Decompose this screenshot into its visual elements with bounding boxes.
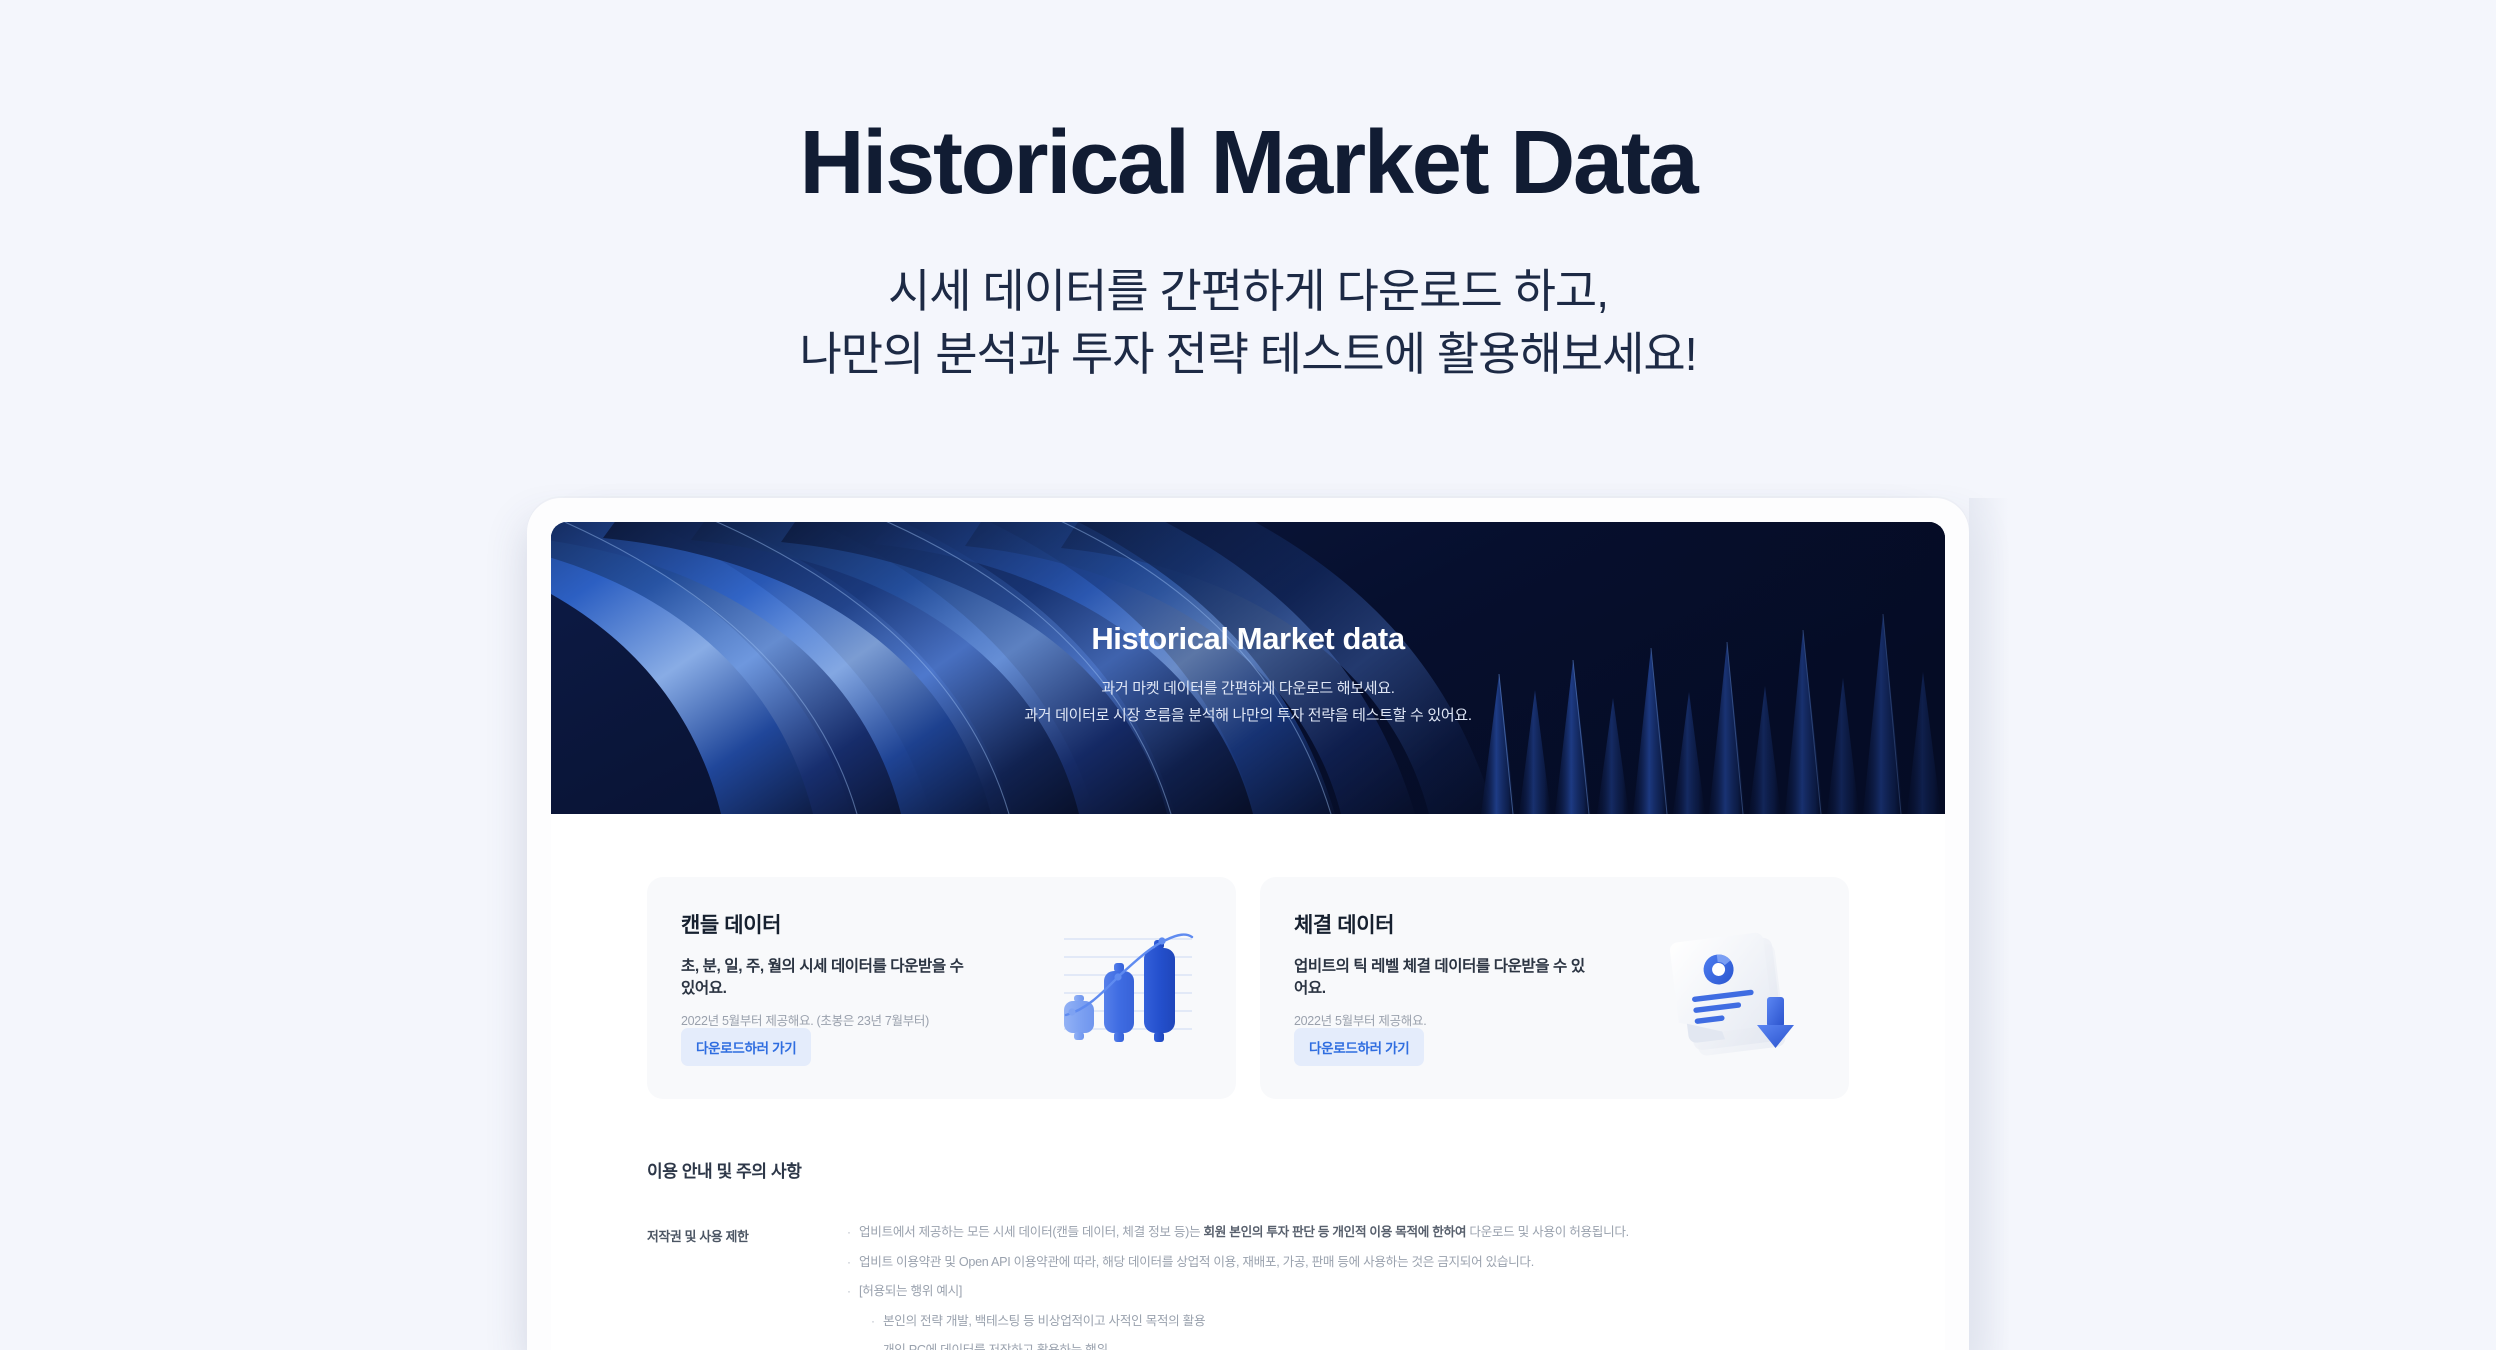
bullet-dot-icon: · [871,1343,883,1350]
page-subtitle: 시세 데이터를 간편하게 다운로드 하고, 나만의 분석과 투자 전략 테스트에… [0,260,2496,387]
terms-bullet-item: ·업비트 이용약관 및 Open API 이용약관에 따라, 해당 데이터를 상… [847,1255,1849,1270]
hero-banner: Historical Market data 과거 마켓 데이터를 간편하게 다… [551,522,1945,814]
document-download-icon [1665,913,1815,1063]
banner-line-2: 과거 데이터로 시장 흐름을 분석해 나만의 투자 전략을 테스트할 수 있어요… [1024,703,1472,729]
terms-bullet-text: 개인 PC에 데이터를 저장하고 활용하는 행위 [883,1343,1108,1350]
page-subtitle-line-1: 시세 데이터를 간편하게 다운로드 하고, [0,260,2496,323]
terms-bullet-text: [허용되는 행위 예시] [859,1284,962,1299]
terms-bullet-text: 업비트에서 제공하는 모든 시세 데이터(캔들 데이터, 체결 정보 등)는 회… [859,1225,1629,1240]
terms-bullet-item: ·본인의 전략 개발, 백테스팅 등 비상업적이고 사적인 목적의 활용 [847,1314,1849,1329]
terms-bullet-item: ·[허용되는 행위 예시] [847,1284,1849,1299]
banner-title: Historical Market data [1091,621,1404,657]
candlestick-chart-icon [1052,913,1202,1063]
bullet-dot-icon: · [871,1314,883,1328]
terms-bullet-item: ·업비트에서 제공하는 모든 시세 데이터(캔들 데이터, 체결 정보 등)는 … [847,1225,1849,1240]
download-button-candle[interactable]: 다운로드하러 가기 [681,1028,811,1066]
tablet-screen: Historical Market data 과거 마켓 데이터를 간편하게 다… [551,522,1945,1350]
page-title: Historical Market Data [0,118,2496,208]
terms-bullet-list: ·업비트에서 제공하는 모든 시세 데이터(캔들 데이터, 체결 정보 등)는 … [847,1225,1849,1350]
terms-bullet-item: ·개인 PC에 데이터를 저장하고 활용하는 행위 [847,1343,1849,1350]
card-description: 초, 분, 일, 주, 월의 시세 데이터를 다운받을 수 있어요. [681,956,981,1001]
download-button-trade[interactable]: 다운로드하러 가기 [1294,1028,1424,1066]
page-root: Historical Market Data 시세 데이터를 간편하게 다운로드… [0,0,2496,1350]
banner-line-1: 과거 마켓 데이터를 간편하게 다운로드 해보세요. [1024,676,1472,702]
terms-heading: 이용 안내 및 주의 사항 [647,1157,1849,1182]
data-card-list: 캔들 데이터 초, 분, 일, 주, 월의 시세 데이터를 다운받을 수 있어요… [551,814,1945,1099]
terms-category-label: 저작권 및 사용 제한 [647,1225,847,1350]
terms-bullet-text: 업비트 이용약관 및 Open API 이용약관에 따라, 해당 데이터를 상업… [859,1255,1534,1270]
bullet-dot-icon: · [847,1255,859,1269]
page-header: Historical Market Data 시세 데이터를 간편하게 다운로드… [0,0,2496,387]
page-subtitle-line-2: 나만의 분석과 투자 전략 테스트에 활용해보세요! [0,323,2496,386]
card-description: 업비트의 틱 레벨 체결 데이터를 다운받을 수 있어요. [1294,956,1594,1001]
terms-body: 저작권 및 사용 제한 ·업비트에서 제공하는 모든 시세 데이터(캔들 데이터… [647,1225,1849,1350]
tablet-device-frame: Historical Market data 과거 마켓 데이터를 간편하게 다… [527,498,1969,1350]
terms-section: 이용 안내 및 주의 사항 저작권 및 사용 제한 ·업비트에서 제공하는 모든… [551,1099,1945,1350]
banner-description: 과거 마켓 데이터를 간편하게 다운로드 해보세요. 과거 데이터로 시장 흐름… [1024,676,1472,729]
bullet-dot-icon: · [847,1284,859,1298]
card-candle-data[interactable]: 캔들 데이터 초, 분, 일, 주, 월의 시세 데이터를 다운받을 수 있어요… [647,877,1236,1099]
banner-copy: Historical Market data 과거 마켓 데이터를 간편하게 다… [551,522,1945,814]
terms-bullet-text: 본인의 전략 개발, 백테스팅 등 비상업적이고 사적인 목적의 활용 [883,1314,1205,1329]
bullet-dot-icon: · [847,1225,859,1239]
device-right-edge-shadow [1969,498,2009,1350]
card-trade-data[interactable]: 체결 데이터 업비트의 틱 레벨 체결 데이터를 다운받을 수 있어요. 202… [1260,877,1849,1099]
